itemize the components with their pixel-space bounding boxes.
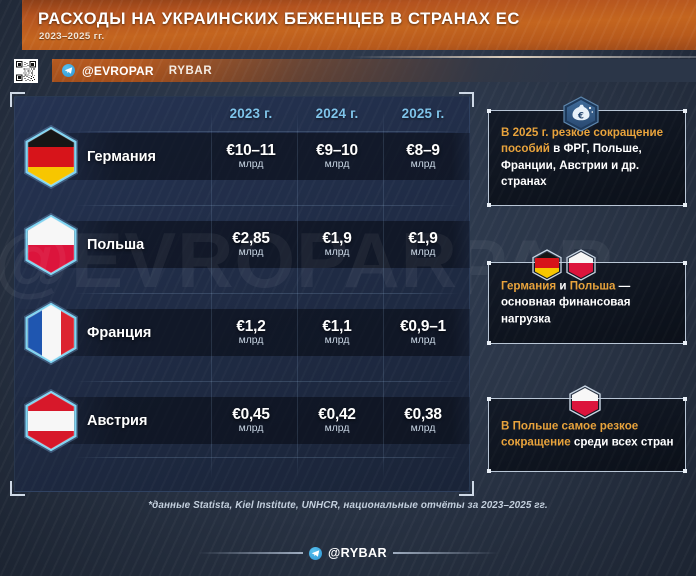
unit-2024: млрд [294,423,380,435]
footer-logo-text[interactable]: @RYBAR [328,546,387,560]
svg-text:€: € [577,111,584,121]
unit-2023: млрд [208,247,294,259]
unit-2024: млрд [294,247,380,259]
telegram-icon [62,64,75,77]
country-name: Франция [87,325,151,341]
qr-code-icon[interactable] [14,59,38,83]
unit-2023: млрд [208,159,294,171]
table-row[interactable]: Франция €1,2 млрд €1,1 млрд €0,9–1 млрд [15,289,469,377]
insight-rest-3: среди всех стран [571,436,674,449]
expenses-table-card: 2023 г. 2024 г. 2025 г. [14,96,470,492]
unit-2023: млрд [208,335,294,347]
value-2024: €0,42 [294,406,380,423]
unit-2024: млрд [294,159,380,171]
header-banner: РАСХОДЫ НА УКРАИНСКИХ БЕЖЕНЦЕВ В СТРАНАХ… [22,0,696,50]
source-note: *данные Statista, Kiel Institute, UNHCR,… [0,500,696,511]
flag-austria-hex [15,389,87,453]
channel-bar-fade [135,59,696,82]
value-2023: €1,2 [208,318,294,335]
unit-2023: млрд [208,423,294,435]
value-2025: €8–9 [380,142,466,159]
flag-france-hex [15,301,87,365]
page-subtitle: 2023–2025 гг. [39,31,105,42]
header-highlight-line [352,56,696,58]
unit-2025: млрд [380,159,466,171]
money-bag-euro-icon: € [561,96,601,137]
partner-name[interactable]: RYBAR [169,65,212,77]
country-name: Австрия [87,413,147,429]
unit-2025: млрд [380,247,466,259]
unit-2025: млрд [380,335,466,347]
channel-credits: @EVROPAR RYBAR [62,60,212,81]
corner-bracket [10,481,25,496]
corner-bracket [459,481,474,496]
corner-bracket [459,92,474,107]
value-2024: €1,9 [294,230,380,247]
flag-poland-icon [565,384,605,425]
value-2025: €1,9 [380,230,466,247]
value-2023: €10–11 [208,142,294,159]
page-title: РАСХОДЫ НА УКРАИНСКИХ БЕЖЕНЦЕВ В СТРАНАХ… [38,9,520,29]
corner-bracket [10,92,25,107]
channel-name[interactable]: @EVROPAR [82,64,154,78]
unit-2025: млрд [380,423,466,435]
table-row[interactable]: Австрия €0,45 млрд €0,42 млрд €0,38 млрд [15,377,469,465]
unit-2024: млрд [294,335,380,347]
value-2025: €0,38 [380,406,466,423]
flag-germany-hex [15,125,87,189]
flags-germany-poland-icon [530,248,600,289]
value-2023: €0,45 [208,406,294,423]
value-2023: €2,85 [208,230,294,247]
value-2024: €9–10 [294,142,380,159]
table-row[interactable]: Польша €2,85 млрд €1,9 млрд €1,9 млрд [15,201,469,289]
telegram-icon [309,547,322,560]
flag-poland-hex [15,213,87,277]
table-row[interactable]: Германия €10–11 млрд €9–10 млрд €8–9 млр… [15,113,469,201]
country-name: Германия [87,149,156,165]
value-2024: €1,1 [294,318,380,335]
country-name: Польша [87,237,144,253]
footer-logo: @RYBAR [0,544,696,562]
value-2025: €0,9–1 [380,318,466,335]
